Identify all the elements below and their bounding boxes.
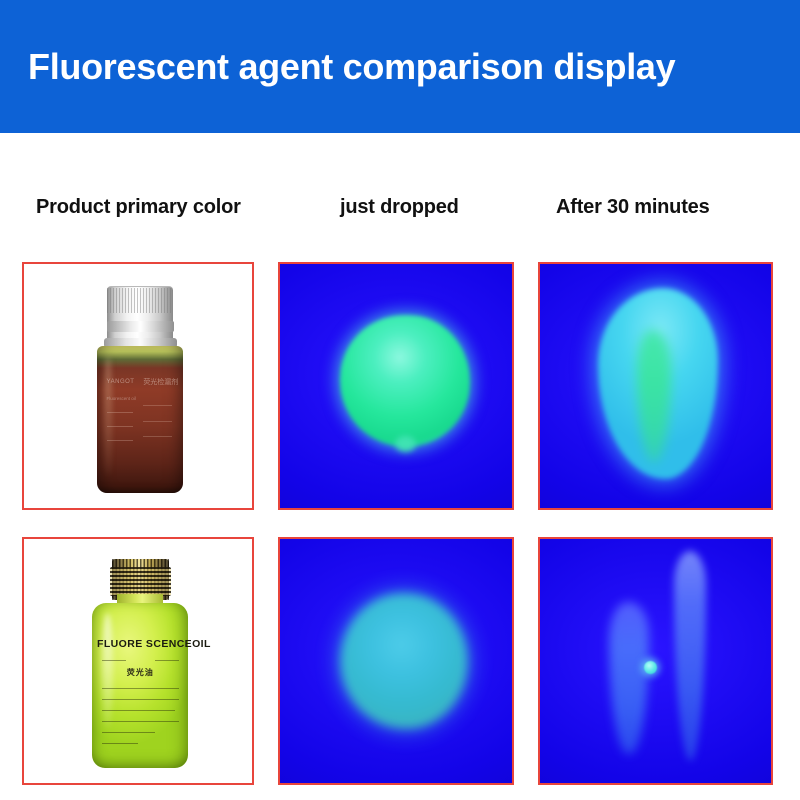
uv-background (540, 539, 771, 783)
cell-amber-just-dropped-uv[interactable] (278, 262, 514, 510)
green-oil-bottle: FLUORE SCENCEOIL 荧光油 (92, 559, 188, 769)
label-cn-text: 荧光检漏剂 (143, 377, 178, 387)
uv-background (540, 264, 771, 508)
bottle-stage: FLUORE SCENCEOIL 荧光油 (24, 539, 252, 783)
fluorescent-droplet-glow (340, 593, 468, 730)
bottle-label: FLUORE SCENCEOIL 荧光油 (94, 638, 186, 747)
fluorescent-droplet-glow (340, 315, 470, 447)
cap-ridges (107, 288, 173, 313)
amber-oil-bottle: YANGOT Fluorescent oil 荧光检漏剂 (95, 286, 186, 493)
label-rule (102, 660, 126, 661)
cell-amber-after-30-minutes-uv[interactable] (538, 262, 773, 510)
uv-background (280, 264, 512, 508)
cap-rings (110, 567, 171, 596)
fluorescent-streak-left (609, 602, 648, 753)
label-cn-text: 荧光油 (97, 667, 183, 678)
cell-amber-product-photo[interactable]: YANGOT Fluorescent oil 荧光检漏剂 (22, 262, 254, 510)
label-rule (102, 743, 139, 744)
label-brand-text: YANGOT (107, 379, 135, 385)
comparison-grid: YANGOT Fluorescent oil 荧光检漏剂 (0, 0, 800, 800)
cell-green-product-photo[interactable]: FLUORE SCENCEOIL 荧光油 (22, 537, 254, 785)
label-rule (102, 721, 179, 722)
label-rule (155, 660, 179, 661)
uv-background (280, 539, 512, 783)
label-sub-text: Fluorescent oil (107, 396, 136, 401)
fluorescent-spread-glow (598, 288, 718, 478)
label-rule (143, 405, 172, 406)
label-rule (102, 710, 176, 711)
label-rule (143, 421, 172, 422)
label-rule (102, 699, 179, 700)
cell-green-after-30-minutes-uv[interactable] (538, 537, 773, 785)
label-rule (107, 426, 133, 427)
label-rule (107, 412, 133, 413)
label-rule (102, 688, 179, 689)
label-brand-text: FLUORE SCENCEOIL (97, 638, 183, 650)
fluorescent-streak-right (674, 551, 706, 761)
label-rule (102, 732, 155, 733)
cap-band (107, 321, 174, 331)
label-rule (143, 436, 172, 437)
cell-green-just-dropped-uv[interactable] (278, 537, 514, 785)
label-rule (107, 440, 133, 441)
bottle-stage: YANGOT Fluorescent oil 荧光检漏剂 (24, 264, 252, 508)
bottle-label: YANGOT Fluorescent oil 荧光检漏剂 (102, 377, 179, 464)
fluorescent-bright-dot (644, 661, 657, 674)
